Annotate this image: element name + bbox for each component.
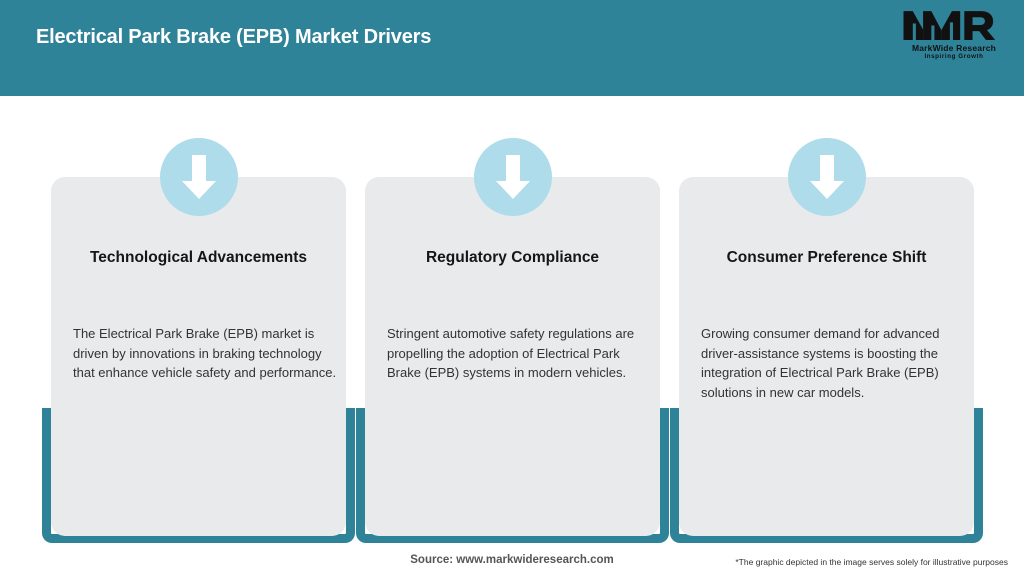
card-title: Regulatory Compliance — [374, 248, 651, 268]
card-title: Consumer Preference Shift — [688, 248, 965, 268]
down-arrow-icon — [474, 138, 552, 216]
driver-card: Technological Advancements The Electrica… — [42, 96, 355, 543]
driver-card: Consumer Preference Shift Growing consum… — [670, 96, 983, 543]
logo-name: MarkWide Research — [902, 43, 1006, 53]
down-arrow-glyph — [806, 153, 848, 201]
drivers-card-grid: Technological Advancements The Electrica… — [0, 96, 1024, 536]
card-body: The Electrical Park Brake (EPB) market i… — [73, 324, 339, 383]
down-arrow-icon — [160, 138, 238, 216]
header-bar: Electrical Park Brake (EPB) Market Drive… — [0, 0, 1024, 96]
disclaimer-note: *The graphic depicted in the image serve… — [735, 557, 1008, 567]
page-title: Electrical Park Brake (EPB) Market Drive… — [36, 26, 431, 49]
driver-card: Regulatory Compliance Stringent automoti… — [356, 96, 669, 543]
down-arrow-icon — [788, 138, 866, 216]
down-arrow-glyph — [178, 153, 220, 201]
mwr-logo-icon — [902, 8, 1006, 42]
card-body: Growing consumer demand for advanced dri… — [701, 324, 967, 402]
card-body: Stringent automotive safety regulations … — [387, 324, 653, 383]
down-arrow-glyph — [492, 153, 534, 201]
card-title: Technological Advancements — [60, 248, 337, 268]
brand-logo: MarkWide Research Inspiring Growth — [902, 8, 1006, 64]
logo-tagline: Inspiring Growth — [902, 53, 1006, 61]
